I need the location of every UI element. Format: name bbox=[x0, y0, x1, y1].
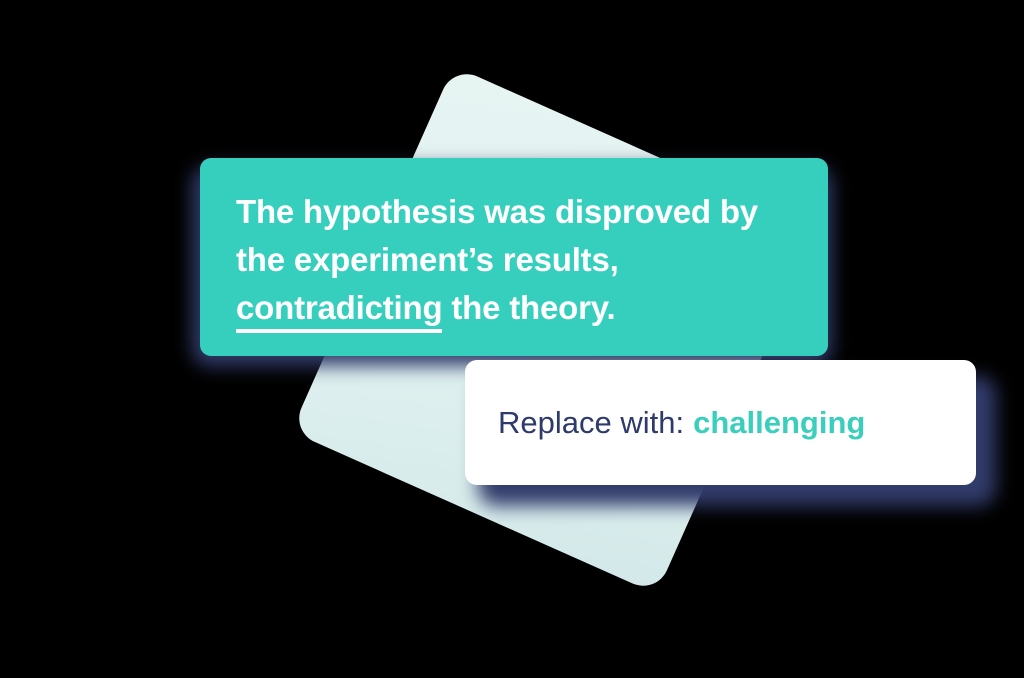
suggested-word[interactable]: challenging bbox=[693, 405, 865, 440]
suggestion-line: Replace with:challenging bbox=[498, 405, 865, 441]
replace-with-label: Replace with: bbox=[498, 405, 684, 440]
suggestion-card[interactable]: Replace with:challenging bbox=[465, 360, 976, 485]
flagged-word[interactable]: contradicting bbox=[236, 289, 442, 333]
sentence-text: The hypothesis was disproved by the expe… bbox=[236, 188, 792, 332]
sentence-segment-before: The hypothesis was disproved by the expe… bbox=[236, 193, 758, 278]
illustration-stage: The hypothesis was disproved by the expe… bbox=[0, 0, 1024, 678]
sentence-card: The hypothesis was disproved by the expe… bbox=[200, 158, 828, 356]
sentence-segment-after: the theory. bbox=[442, 289, 615, 326]
